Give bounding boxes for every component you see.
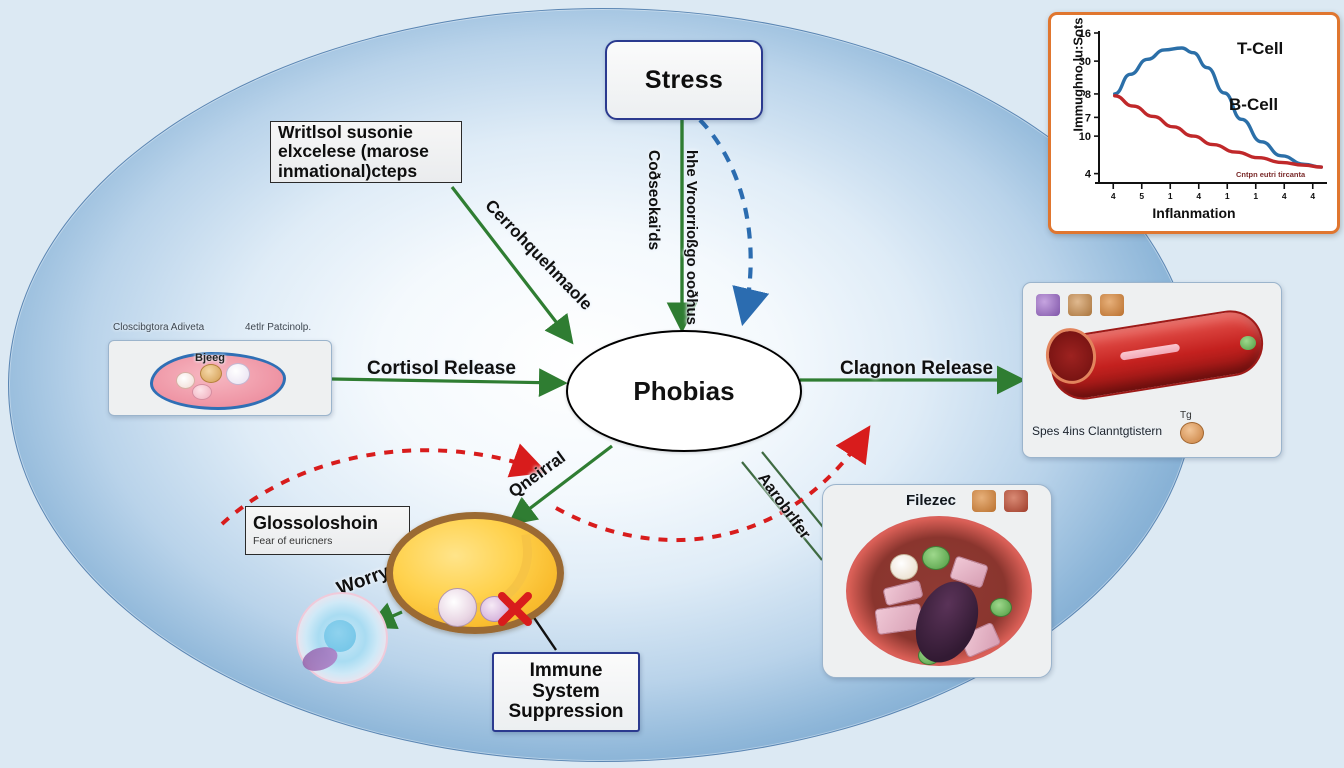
edge-label-vertical-green: Coðseokai'ds [644,150,662,250]
cell-organelle-icon [192,384,212,400]
node-phobias-label: Phobias [633,376,734,407]
cell-organelle-icon [176,372,195,389]
chart-x-axis-label: Inflanmation [1051,205,1337,221]
svg-text:4: 4 [1085,169,1092,181]
svg-text:5: 5 [1139,191,1144,201]
rbc-organelle-icon [990,598,1012,617]
node-stress-label: Stress [645,66,723,95]
cell-organelle-icon [200,364,222,383]
node-cortisol-description[interactable]: Writlsol susonie elxcelese (marose inmat… [270,121,462,183]
svg-text:8: 8 [1085,89,1091,101]
edge-label-cortisol-release-right: Clagnon Release [840,358,993,380]
rbc-organelle-icon [890,554,918,580]
inset-red-blood-cell-caption: Filezec [906,492,956,509]
microbe-icon [972,490,996,512]
rbc-organelle-icon [922,546,950,570]
node-cortisol-description-label: Writlsol susonie elxcelese (marose inmat… [278,123,454,182]
blocked-x-icon [498,592,532,626]
edge-label-cortisol-release-left: Cortisol Release [367,358,516,380]
vessel-icon-strip [1036,294,1124,316]
svg-text:1: 1 [1168,191,1173,201]
node-glossophobia-title: Glossoloshoin [253,514,402,532]
inset-blood-vessel-caption: Spes 4ins Clanntgtistern [1032,424,1162,438]
cell-icon [1068,294,1092,316]
node-immune-suppression[interactable]: Immune System Suppression [492,652,640,732]
node-phobias[interactable]: Phobias [566,330,802,452]
diagram-canvas: Stress Phobias Writlsol susonie elxceles… [0,0,1344,768]
immune-response-chart: 16308710445141144 [1051,15,1337,231]
inset-left-cell-caption-left: Closcibgtora Adiveta [113,322,204,333]
svg-text:4: 4 [1310,191,1315,201]
rbc-icon-strip [972,490,1028,512]
vessel-marker-label: Tg [1180,410,1192,421]
shield-icon [1004,490,1028,512]
svg-text:4: 4 [1111,191,1116,201]
inset-chart-panel[interactable]: 16308710445141144 Immughno lu:Sots Infla… [1048,12,1340,234]
svg-text:4: 4 [1196,191,1201,201]
svg-text:1: 1 [1225,191,1230,201]
inset-left-cell-caption-right: 4etlr Patcinolp. [245,322,311,333]
chart-legend-tcell: T-Cell [1237,39,1283,59]
node-glossophobia[interactable]: Glossoloshoin Fear of euricners [245,506,410,555]
chart-y-axis-label: Immughno lu:Sots [1071,15,1086,135]
node-immune-line1: Immune [530,661,603,682]
node-immune-line3: Suppression [508,702,623,723]
node-immune-line2: System [532,682,600,703]
node-glossophobia-subtitle: Fear of euricners [253,535,402,547]
svg-text:1: 1 [1253,191,1258,201]
virus-icon [1036,294,1060,316]
vessel-cell-icon [1180,422,1204,444]
molecule-icon [1100,294,1124,316]
vessel-cell-marker-icon [1240,336,1256,350]
svg-text:4: 4 [1282,191,1287,201]
edge-label-vertical-blue: hhe Vroorrioßgo ooðhus [683,150,700,325]
inset-left-cell-inner-label: Bjeeg [195,352,225,364]
chart-annotation: Cntpn eutri tircanta [1236,170,1305,179]
node-stress[interactable]: Stress [605,40,763,120]
svg-text:7: 7 [1085,112,1091,124]
chart-legend-bcell: B-Cell [1229,95,1278,115]
organ-cell-icon [438,588,477,627]
cell-organelle-icon [226,363,250,385]
